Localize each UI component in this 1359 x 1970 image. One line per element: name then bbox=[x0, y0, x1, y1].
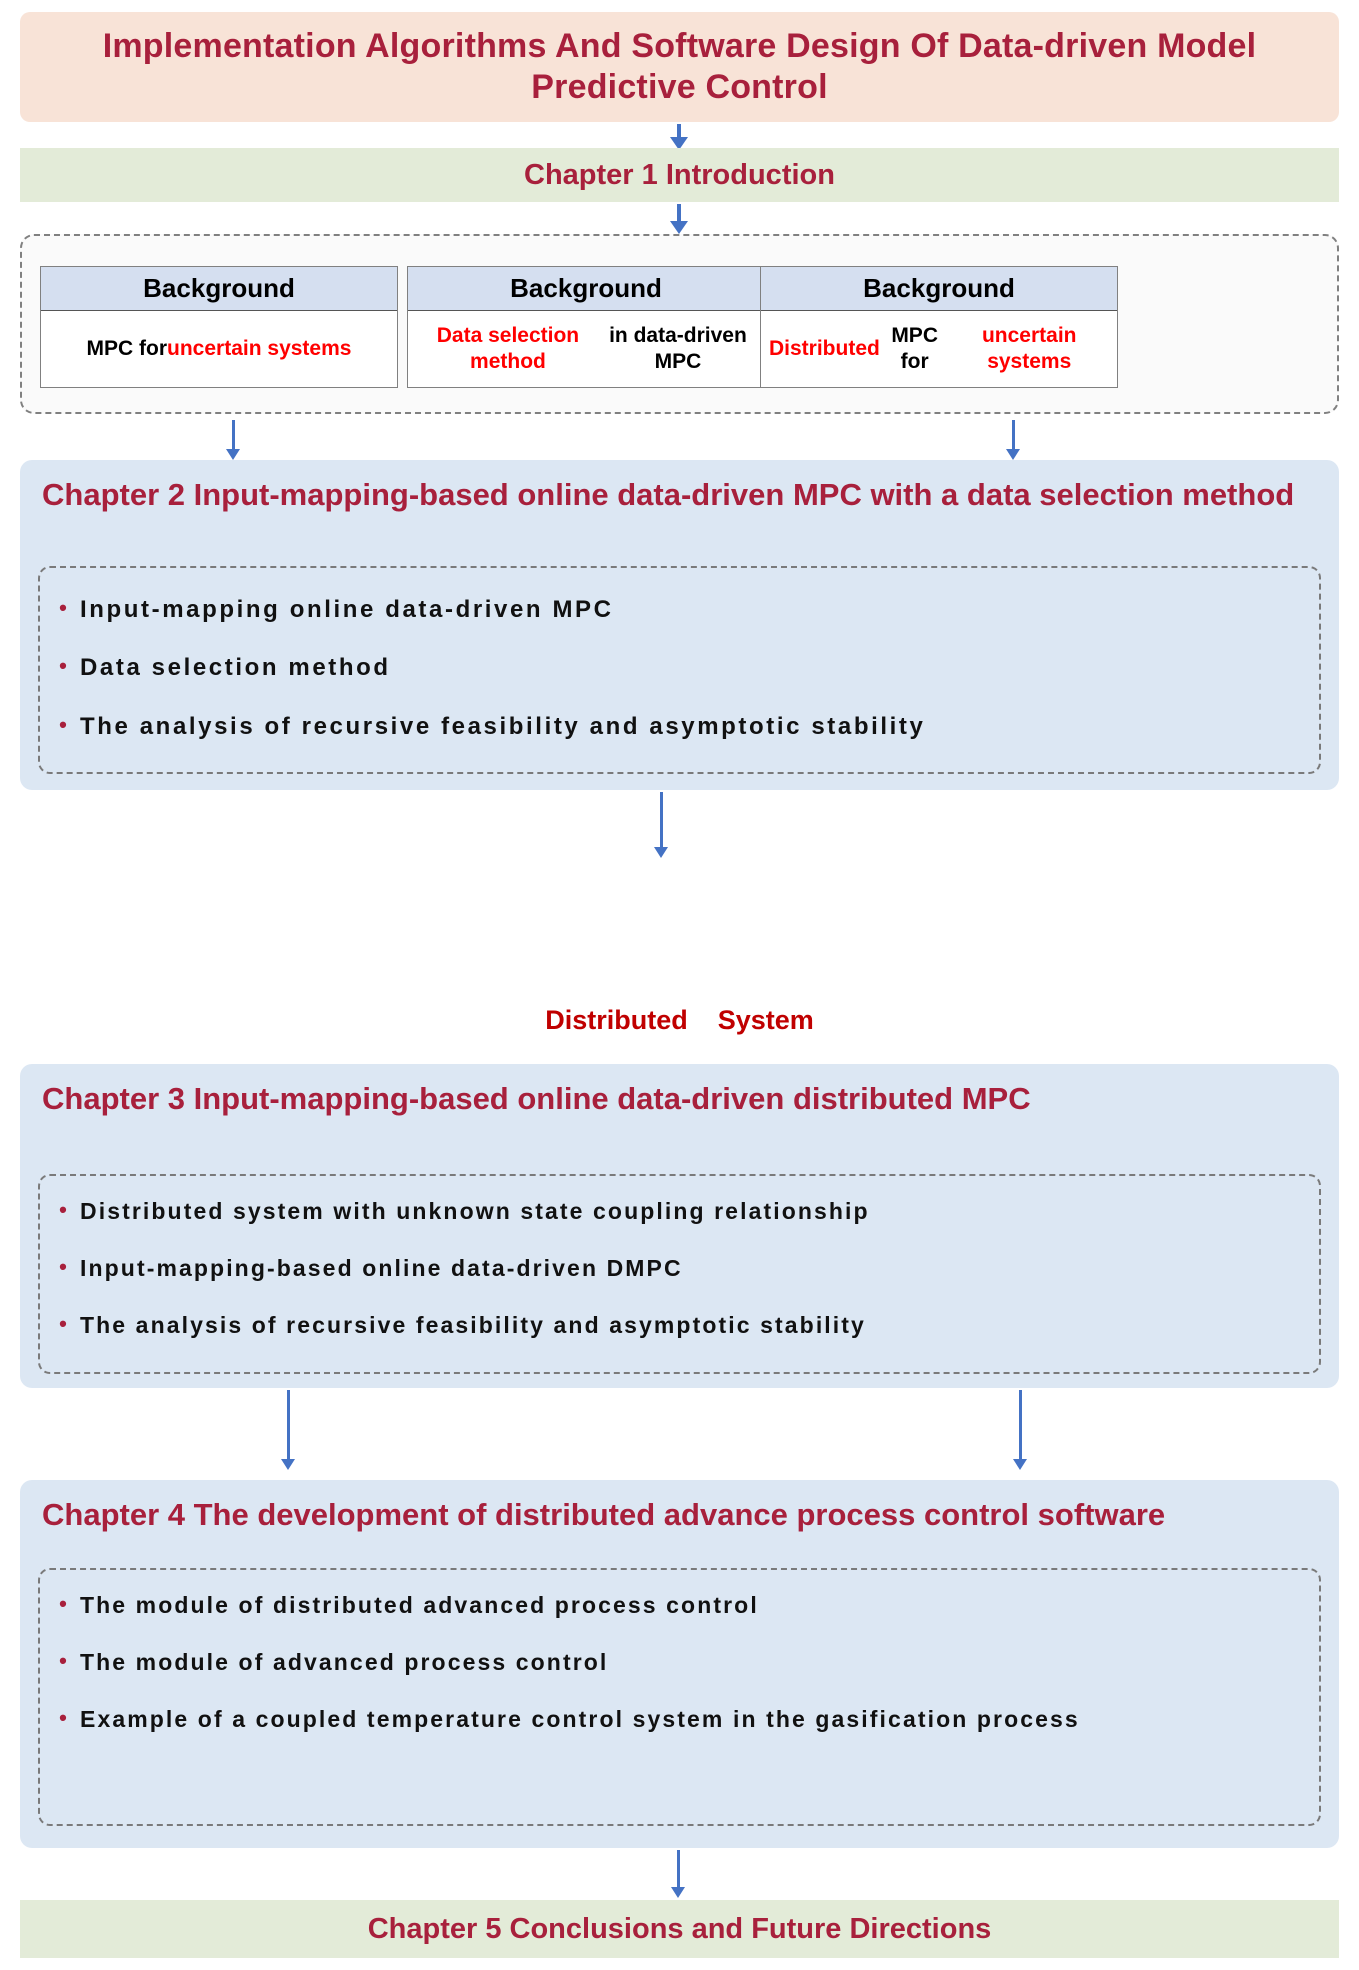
chapter4-bullet-3-text: Example of a coupled temperature control… bbox=[80, 1704, 1311, 1735]
chapter2-bullet-1-text: Input-mapping online data-driven MPC bbox=[80, 594, 1303, 626]
chapter3-bullet-1: • Distributed system with unknown state … bbox=[46, 1196, 1311, 1227]
chapter2-bullet-3-text: The analysis of recursive feasibility an… bbox=[80, 711, 1303, 743]
arrow-chapter3-to-chapter4-right bbox=[1019, 1390, 1022, 1460]
background-card-1: Background MPC for uncertain systems bbox=[40, 266, 398, 388]
background-card-3-header: Background bbox=[761, 267, 1117, 311]
connector-label-left: Distributed bbox=[545, 1005, 688, 1035]
chapter2-title: Chapter 2 Input-mapping-based online dat… bbox=[20, 460, 1339, 514]
background-card-1-body-highlight: uncertain systems bbox=[167, 336, 351, 362]
chapter2-bullet-2-text: Data selection method bbox=[80, 652, 1303, 684]
chapter1-label: Chapter 1 Introduction bbox=[524, 159, 835, 192]
chapter5-bar: Chapter 5 Conclusions and Future Directi… bbox=[20, 1900, 1339, 1958]
background-card-3: Background Distributed MPC for uncertain… bbox=[760, 266, 1118, 388]
arrow-chapter1-to-background bbox=[677, 204, 681, 222]
bullet-dot-icon: • bbox=[46, 1647, 80, 1675]
background-card-1-header: Background bbox=[41, 267, 397, 311]
thesis-title-text: Implementation Algorithms And Software D… bbox=[46, 26, 1313, 109]
background-card-2-body: Data selection method in data-driven MPC bbox=[408, 311, 764, 387]
chapter4-bullet-2-text: The module of advanced process control bbox=[80, 1647, 1311, 1678]
chapter3-bullet-2: • Input-mapping-based online data-driven… bbox=[46, 1253, 1311, 1284]
bullet-dot-icon: • bbox=[46, 1253, 80, 1281]
arrow-chapter4-to-chapter5 bbox=[677, 1850, 680, 1888]
chapter2-bullet-2: • Data selection method bbox=[46, 652, 1303, 684]
chapter4-bullet-3: • Example of a coupled temperature contr… bbox=[46, 1704, 1311, 1735]
chapter4-bullet-2: • The module of advanced process control bbox=[46, 1647, 1311, 1678]
bullet-dot-icon: • bbox=[46, 594, 80, 622]
arrow-background-to-chapter2-left bbox=[232, 420, 235, 450]
background-card-1-body: MPC for uncertain systems bbox=[41, 311, 397, 387]
flowchart-page: Implementation Algorithms And Software D… bbox=[0, 0, 1359, 1970]
chapter2-bullet-3: • The analysis of recursive feasibility … bbox=[46, 711, 1303, 743]
chapter1-bar: Chapter 1 Introduction bbox=[20, 148, 1339, 202]
connector-label-right: System bbox=[718, 1005, 814, 1035]
chapter4-bullet-1: • The module of distributed advanced pro… bbox=[46, 1590, 1311, 1621]
chapter4-bullet-box: • The module of distributed advanced pro… bbox=[38, 1568, 1321, 1826]
arrow-title-to-chapter1 bbox=[677, 124, 681, 138]
chapter3-bullet-2-text: Input-mapping-based online data-driven D… bbox=[80, 1253, 1311, 1284]
thesis-title-banner: Implementation Algorithms And Software D… bbox=[20, 12, 1339, 122]
chapter3-bullet-box: • Distributed system with unknown state … bbox=[38, 1174, 1321, 1374]
background-card-1-body-pre: MPC for bbox=[87, 336, 168, 362]
background-card-2-body-highlight: Data selection method bbox=[416, 323, 600, 376]
background-group: Background MPC for uncertain systems Bac… bbox=[20, 234, 1339, 414]
chapter3-bullet-3: • The analysis of recursive feasibility … bbox=[46, 1310, 1311, 1341]
bullet-dot-icon: • bbox=[46, 1310, 80, 1338]
chapter4-title: Chapter 4 The development of distributed… bbox=[20, 1480, 1339, 1534]
background-card-3-body-post: MPC for bbox=[880, 323, 950, 376]
connector-label-distributed-system: DistributedSystem bbox=[0, 1005, 1359, 1036]
background-card-3-body-highlight2: uncertain systems bbox=[949, 323, 1109, 376]
chapter3-panel: Chapter 3 Input-mapping-based online dat… bbox=[20, 1064, 1339, 1388]
chapter2-bullet-box: • Input-mapping online data-driven MPC •… bbox=[38, 566, 1321, 774]
chapter4-bullet-1-text: The module of distributed advanced proce… bbox=[80, 1590, 1311, 1621]
arrow-chapter3-to-chapter4-left bbox=[287, 1390, 290, 1460]
bullet-dot-icon: • bbox=[46, 652, 80, 680]
bullet-dot-icon: • bbox=[46, 1196, 80, 1224]
bullet-dot-icon: • bbox=[46, 1590, 80, 1618]
chapter5-label: Chapter 5 Conclusions and Future Directi… bbox=[368, 1913, 992, 1946]
background-card-3-body: Distributed MPC for uncertain systems bbox=[761, 311, 1117, 387]
arrow-chapter2-to-chapter3 bbox=[660, 792, 663, 848]
chapter4-panel: Chapter 4 The development of distributed… bbox=[20, 1480, 1339, 1848]
bullet-dot-icon: • bbox=[46, 711, 80, 739]
bullet-dot-icon: • bbox=[46, 1704, 80, 1732]
chapter3-bullet-3-text: The analysis of recursive feasibility an… bbox=[80, 1310, 1311, 1341]
background-card-2: Background Data selection method in data… bbox=[407, 266, 765, 388]
arrow-background-to-chapter2-right bbox=[1012, 420, 1015, 450]
chapter3-title: Chapter 3 Input-mapping-based online dat… bbox=[20, 1064, 1339, 1118]
chapter2-panel: Chapter 2 Input-mapping-based online dat… bbox=[20, 460, 1339, 790]
background-card-2-body-post: in data-driven MPC bbox=[600, 323, 756, 376]
background-card-2-header: Background bbox=[408, 267, 764, 311]
background-card-3-body-highlight: Distributed bbox=[769, 336, 880, 362]
chapter3-bullet-1-text: Distributed system with unknown state co… bbox=[80, 1196, 1311, 1227]
chapter2-bullet-1: • Input-mapping online data-driven MPC bbox=[46, 594, 1303, 626]
